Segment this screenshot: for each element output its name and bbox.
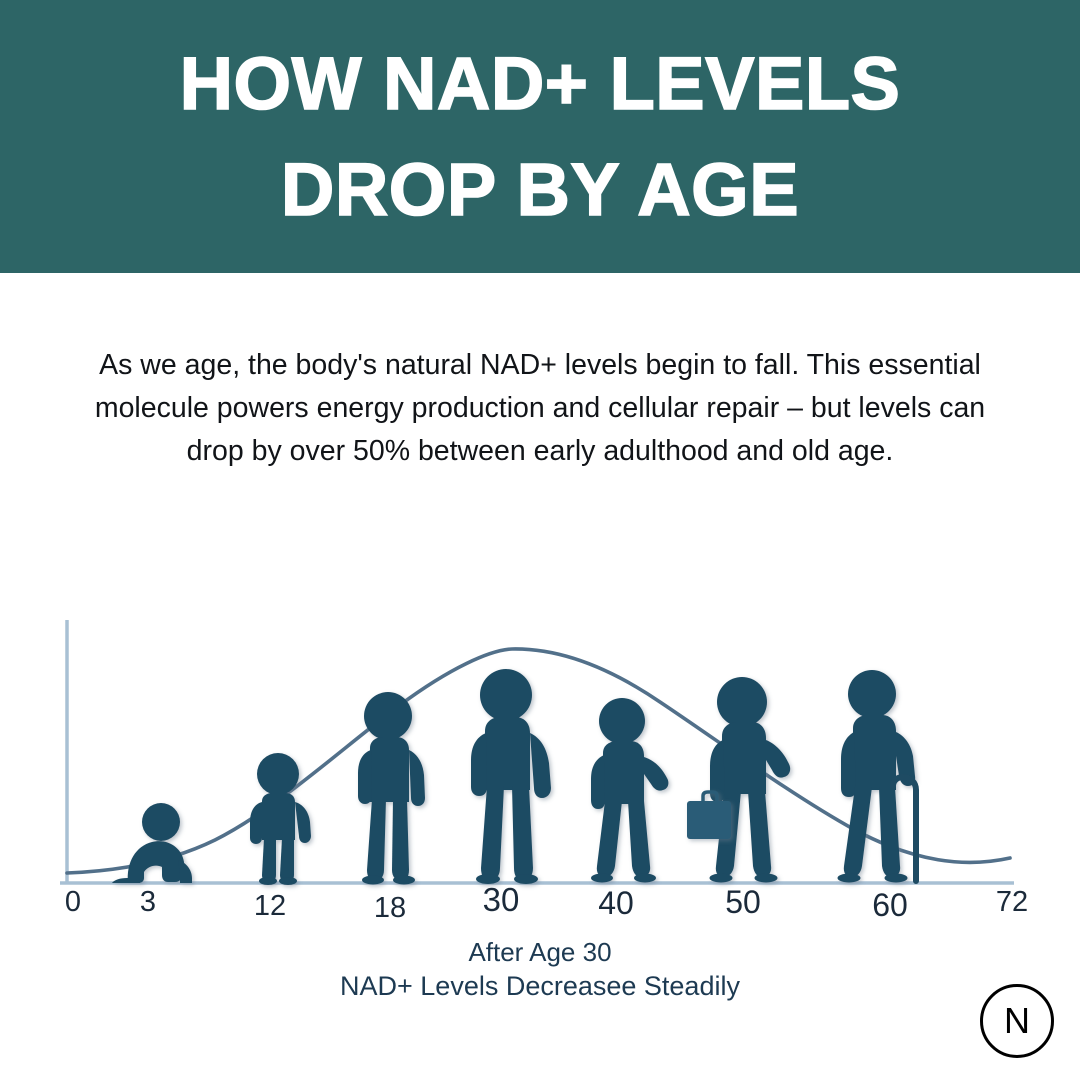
figure-adult-briefcase-age-50	[710, 677, 791, 883]
chart-svg	[0, 590, 1080, 920]
chart-caption: After Age 30 NAD+ Levels Decreasee Stead…	[0, 936, 1080, 1003]
x-tick-0: 0	[65, 886, 81, 919]
infographic-page: HOW NAD+ LEVELS DROP BY AGE As we age, t…	[0, 0, 1080, 1080]
nad-levels-chart: 0 3 12 18 30 40 50 60 72	[0, 590, 1080, 920]
x-tick-3: 3	[140, 886, 156, 919]
page-title-line-1: HOW NAD+ LEVELS	[180, 31, 901, 136]
caption-line-1: After Age 30	[0, 936, 1080, 969]
x-tick-60: 60	[872, 887, 908, 924]
x-tick-12: 12	[254, 890, 286, 923]
x-tick-72: 72	[996, 886, 1028, 919]
caption-line-2: NAD+ Levels Decreasee Steadily	[0, 969, 1080, 1003]
figure-baby-age-3	[112, 803, 192, 883]
x-tick-40: 40	[598, 885, 634, 922]
intro-paragraph: As we age, the body's natural NAD+ level…	[70, 344, 1010, 473]
x-tick-30: 30	[483, 881, 520, 919]
figure-teen-age-18	[358, 692, 425, 885]
figure-toddler-age-12	[250, 753, 311, 885]
figure-adult-age-30	[471, 669, 551, 884]
x-tick-18: 18	[374, 892, 406, 925]
brand-logo-circle-icon: N	[980, 984, 1054, 1058]
figure-adult-age-40	[591, 698, 668, 883]
brand-logo-letter: N	[1004, 1003, 1030, 1039]
page-title-line-2: DROP BY AGE	[281, 137, 799, 242]
header-banner: HOW NAD+ LEVELS DROP BY AGE	[0, 0, 1080, 273]
x-tick-50: 50	[725, 884, 761, 921]
